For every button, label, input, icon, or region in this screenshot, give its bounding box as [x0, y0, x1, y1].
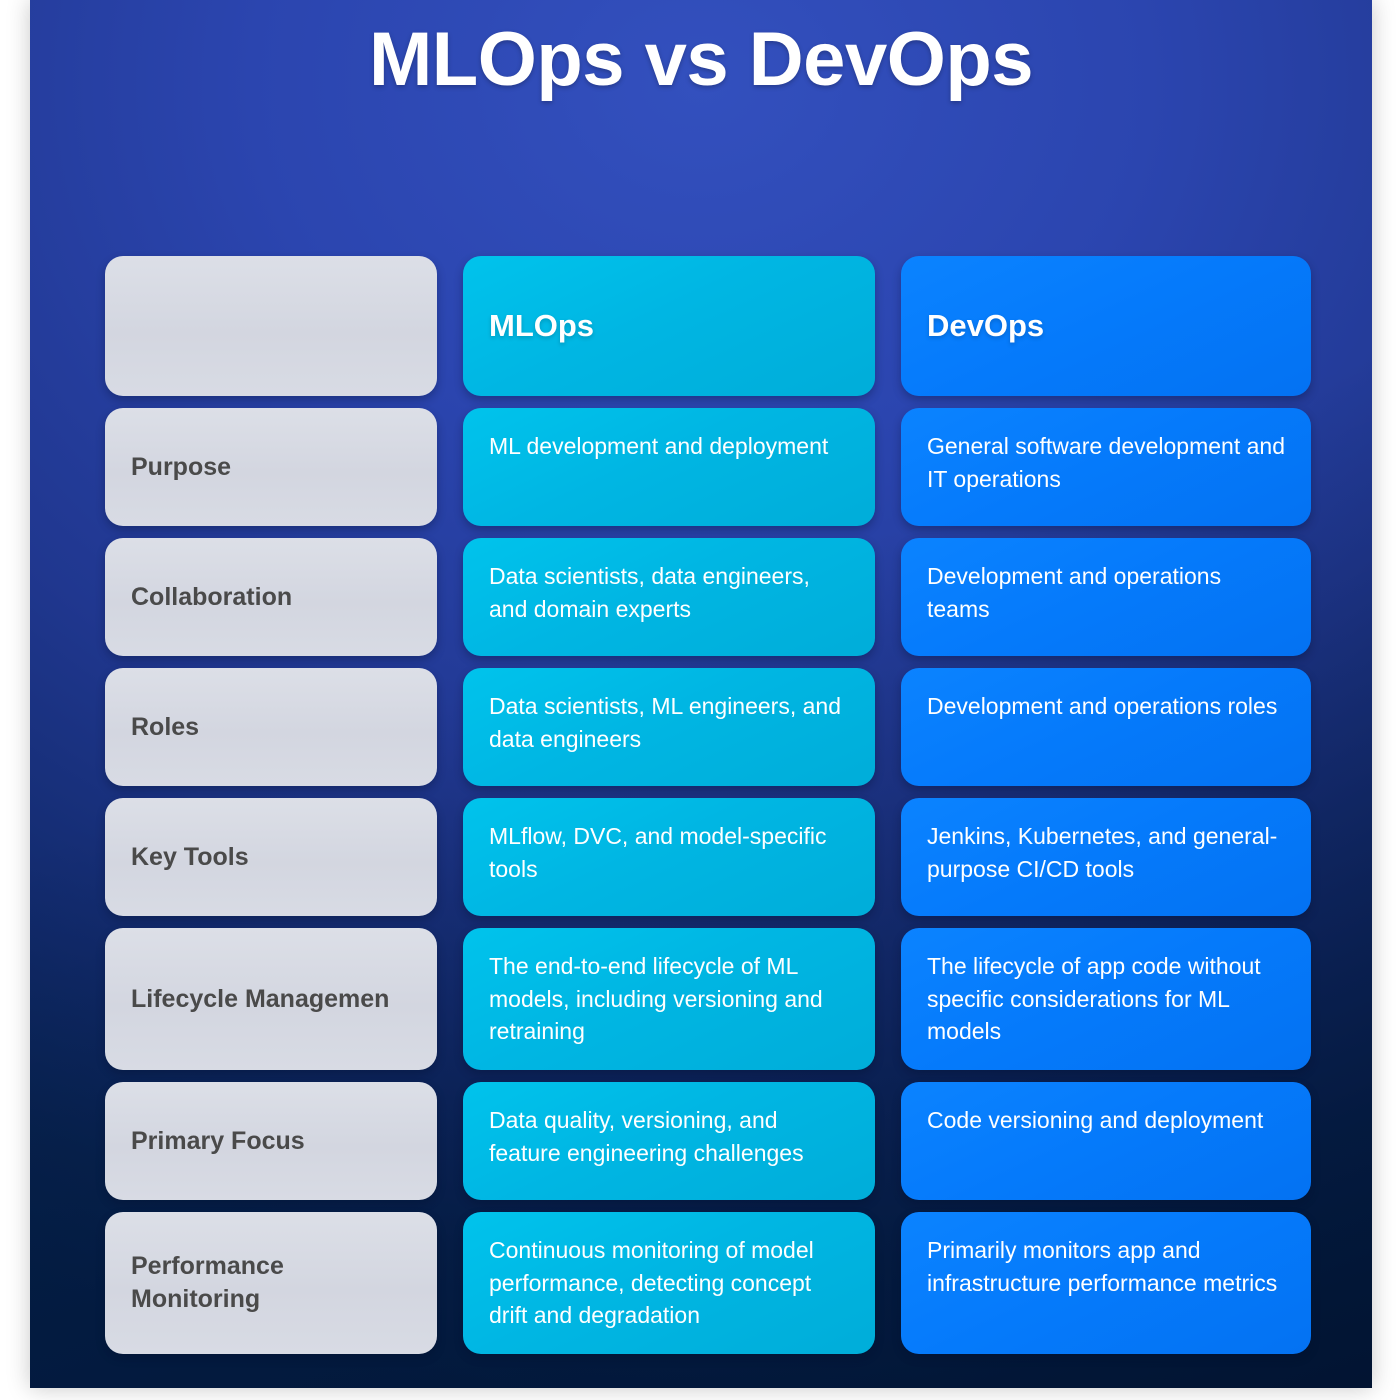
- row-label-cell: Purpose: [105, 408, 437, 526]
- row-label-cell: Key Tools: [105, 798, 437, 916]
- row-devops-cell: The lifecycle of app code without specif…: [901, 928, 1311, 1070]
- row-label: Lifecycle Managemen: [131, 983, 411, 1016]
- row-mlops-value: Data scientists, ML engineers, and data …: [489, 690, 849, 755]
- row-mlops-value: The end-to-end lifecycle of ML models, i…: [489, 950, 849, 1048]
- row-mlops-value: ML development and deployment: [489, 430, 849, 463]
- row-devops-cell: Code versioning and deployment: [901, 1082, 1311, 1200]
- table-row: Roles Data scientists, ML engineers, and…: [105, 668, 1313, 786]
- header-cell-mlops: MLOps: [463, 256, 875, 396]
- row-mlops-value: Data quality, versioning, and feature en…: [489, 1104, 849, 1169]
- table-row: Performance Monitoring Continuous monito…: [105, 1212, 1313, 1354]
- row-devops-value: The lifecycle of app code without specif…: [927, 950, 1285, 1048]
- header-cell-blank: [105, 256, 437, 396]
- infographic-root: MLOps vs DevOps MLOps DevOps: [0, 0, 1400, 1400]
- row-label-cell: Primary Focus: [105, 1082, 437, 1200]
- row-devops-value: Code versioning and deployment: [927, 1104, 1285, 1137]
- table-row: Lifecycle Managemen The end-to-end lifec…: [105, 928, 1313, 1070]
- row-mlops-cell: ML development and deployment: [463, 408, 875, 526]
- table-header-row: MLOps DevOps: [105, 256, 1313, 396]
- row-mlops-value: Continuous monitoring of model performan…: [489, 1234, 849, 1332]
- comparison-table: MLOps DevOps Purpose ML development and …: [105, 256, 1313, 1354]
- row-label: Roles: [131, 711, 411, 744]
- row-mlops-cell: The end-to-end lifecycle of ML models, i…: [463, 928, 875, 1070]
- row-label: Primary Focus: [131, 1125, 411, 1158]
- row-devops-cell: Development and operations roles: [901, 668, 1311, 786]
- row-mlops-cell: Data scientists, data engineers, and dom…: [463, 538, 875, 656]
- row-mlops-cell: Data quality, versioning, and feature en…: [463, 1082, 875, 1200]
- page-title: MLOps vs DevOps: [30, 18, 1372, 102]
- row-devops-value: Primarily monitors app and infrastructur…: [927, 1234, 1285, 1299]
- row-mlops-value: Data scientists, data engineers, and dom…: [489, 560, 849, 625]
- header-devops-label: DevOps: [927, 304, 1285, 348]
- row-label-cell: Performance Monitoring: [105, 1212, 437, 1354]
- row-mlops-cell: Data scientists, ML engineers, and data …: [463, 668, 875, 786]
- row-mlops-cell: Continuous monitoring of model performan…: [463, 1212, 875, 1354]
- table-row: Key Tools MLflow, DVC, and model-specifi…: [105, 798, 1313, 916]
- row-label: Purpose: [131, 451, 411, 484]
- row-label: Collaboration: [131, 581, 411, 614]
- row-devops-value: Development and operations teams: [927, 560, 1285, 625]
- row-label: Performance Monitoring: [131, 1250, 411, 1315]
- row-devops-cell: General software development and IT oper…: [901, 408, 1311, 526]
- row-devops-value: Development and operations roles: [927, 690, 1285, 723]
- row-mlops-value: MLflow, DVC, and model-specific tools: [489, 820, 849, 885]
- header-mlops-label: MLOps: [489, 304, 849, 348]
- row-mlops-cell: MLflow, DVC, and model-specific tools: [463, 798, 875, 916]
- row-devops-value: General software development and IT oper…: [927, 430, 1285, 495]
- row-label-cell: Lifecycle Managemen: [105, 928, 437, 1070]
- row-label-cell: Roles: [105, 668, 437, 786]
- row-devops-value: Jenkins, Kubernetes, and general-purpose…: [927, 820, 1285, 885]
- table-row: Primary Focus Data quality, versioning, …: [105, 1082, 1313, 1200]
- row-devops-cell: Jenkins, Kubernetes, and general-purpose…: [901, 798, 1311, 916]
- row-devops-cell: Development and operations teams: [901, 538, 1311, 656]
- row-label-cell: Collaboration: [105, 538, 437, 656]
- row-label: Key Tools: [131, 841, 411, 874]
- header-cell-devops: DevOps: [901, 256, 1311, 396]
- comparison-card: MLOps vs DevOps MLOps DevOps: [30, 0, 1372, 1388]
- table-row: Collaboration Data scientists, data engi…: [105, 538, 1313, 656]
- table-row: Purpose ML development and deployment Ge…: [105, 408, 1313, 526]
- row-devops-cell: Primarily monitors app and infrastructur…: [901, 1212, 1311, 1354]
